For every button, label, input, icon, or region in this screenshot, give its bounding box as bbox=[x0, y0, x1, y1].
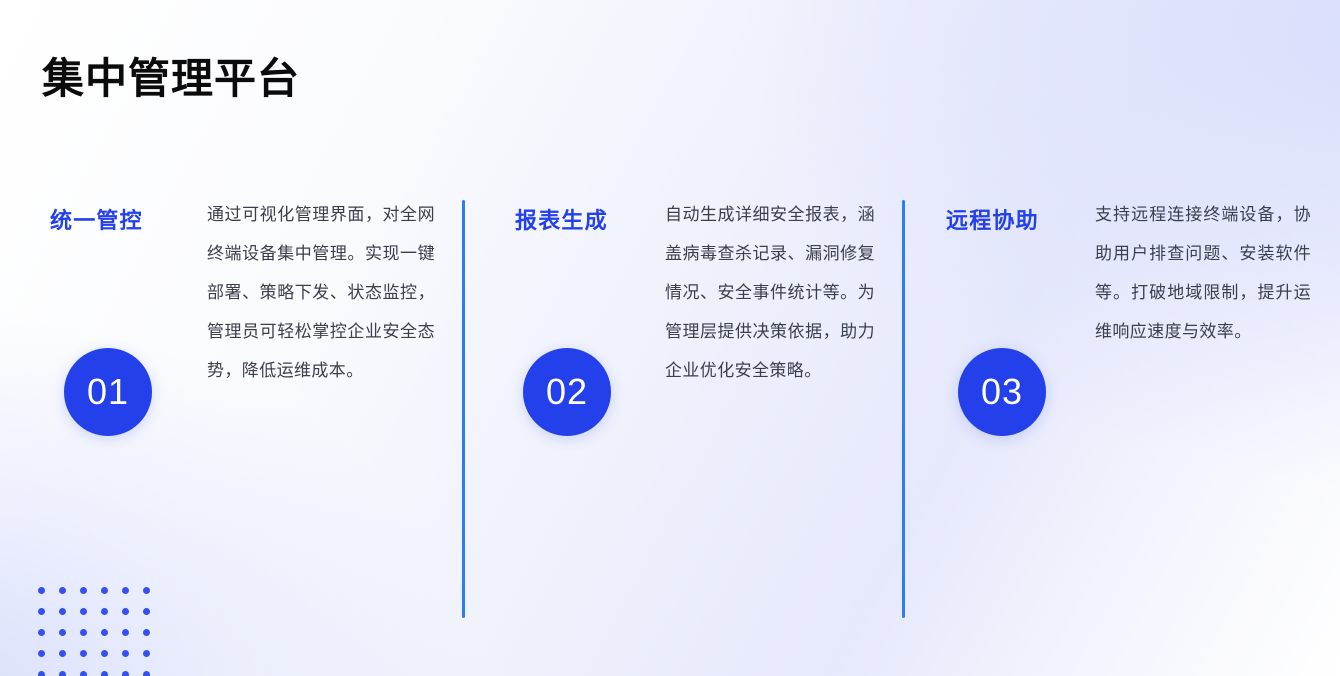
feature-heading-2: 报表生成 bbox=[515, 203, 608, 235]
feature-number-badge-1: 01 bbox=[64, 348, 152, 436]
grid-dot bbox=[101, 629, 108, 636]
grid-dot bbox=[143, 587, 150, 594]
grid-dot bbox=[38, 671, 45, 676]
grid-dot bbox=[80, 608, 87, 615]
grid-dot bbox=[122, 587, 129, 594]
feature-heading-3: 远程协助 bbox=[946, 203, 1039, 235]
feature-body-2: 自动生成详细安全报表，涵盖病毒查杀记录、漏洞修复情况、安全事件统计等。为管理层提… bbox=[665, 195, 875, 390]
grid-dot bbox=[101, 587, 108, 594]
grid-dot bbox=[122, 650, 129, 657]
grid-dot bbox=[122, 629, 129, 636]
grid-dot bbox=[38, 608, 45, 615]
feature-number-badge-3: 03 bbox=[958, 348, 1046, 436]
grid-dot bbox=[101, 671, 108, 676]
column-divider-2 bbox=[902, 200, 905, 618]
grid-dot bbox=[59, 671, 66, 676]
grid-dot bbox=[143, 671, 150, 676]
grid-dot bbox=[122, 608, 129, 615]
grid-dot bbox=[143, 629, 150, 636]
grid-dot bbox=[80, 671, 87, 676]
grid-dot bbox=[101, 650, 108, 657]
feature-number-badge-2: 02 bbox=[523, 348, 611, 436]
grid-dot bbox=[80, 587, 87, 594]
slide-canvas: 集中管理平台 统一管控 通过可视化管理界面，对全网终端设备集中管理。实现一键部署… bbox=[0, 0, 1340, 676]
grid-dot bbox=[59, 608, 66, 615]
feature-body-1: 通过可视化管理界面，对全网终端设备集中管理。实现一键部署、策略下发、状态监控，管… bbox=[207, 195, 435, 390]
grid-dot bbox=[59, 629, 66, 636]
grid-dot bbox=[80, 629, 87, 636]
feature-heading-1: 统一管控 bbox=[50, 203, 143, 235]
grid-dot bbox=[59, 650, 66, 657]
grid-dot bbox=[59, 587, 66, 594]
grid-dot bbox=[143, 650, 150, 657]
grid-dot bbox=[143, 608, 150, 615]
grid-dot bbox=[38, 587, 45, 594]
grid-dot bbox=[38, 629, 45, 636]
page-title: 集中管理平台 bbox=[42, 55, 300, 104]
grid-dot bbox=[122, 671, 129, 676]
feature-body-3: 支持远程连接终端设备，协助用户排查问题、安装软件等。打破地域限制，提升运维响应速… bbox=[1095, 195, 1311, 351]
grid-dot bbox=[80, 650, 87, 657]
grid-dot bbox=[101, 608, 108, 615]
grid-dot bbox=[38, 650, 45, 657]
column-divider-1 bbox=[462, 200, 465, 618]
dot-grid-decoration bbox=[38, 587, 158, 676]
